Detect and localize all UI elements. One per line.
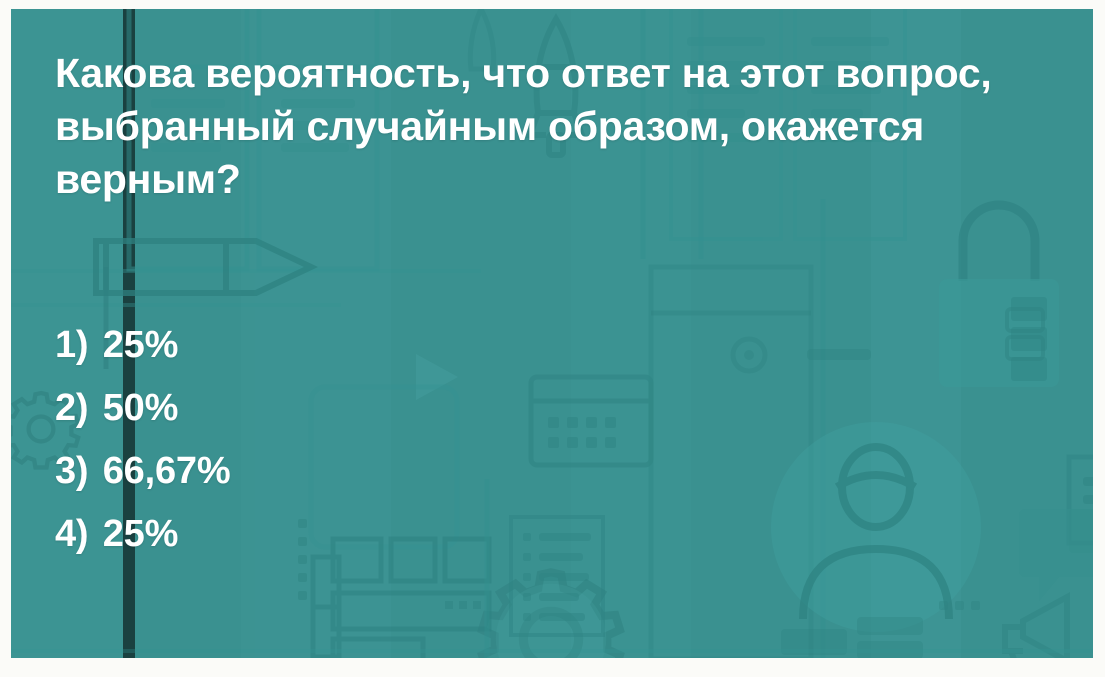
question-text: Какова вероятность, что ответ на этот во…: [55, 47, 1015, 206]
answer-option-4[interactable]: 4) 25%: [55, 503, 230, 566]
answer-label-1: 25%: [103, 324, 178, 366]
teal-panel: Какова вероятность, что ответ на этот во…: [11, 9, 1093, 658]
card-content: Какова вероятность, что ответ на этот во…: [11, 9, 1093, 658]
answer-label-3: 66,67%: [103, 450, 231, 492]
answer-marker-1: 1): [55, 324, 88, 366]
answer-label-4: 25%: [103, 513, 178, 555]
answer-marker-4: 4): [55, 513, 88, 555]
answer-options-list: 1) 25% 2) 50% 3) 66,67% 4) 25%: [55, 314, 230, 566]
quiz-card: Какова вероятность, что ответ на этот во…: [0, 0, 1105, 677]
answer-option-3[interactable]: 3) 66,67%: [55, 440, 230, 503]
answer-marker-2: 2): [55, 387, 88, 429]
answer-label-2: 50%: [103, 387, 178, 429]
answer-marker-3: 3): [55, 450, 88, 492]
answer-option-2[interactable]: 2) 50%: [55, 377, 230, 440]
answer-option-1[interactable]: 1) 25%: [55, 314, 230, 377]
